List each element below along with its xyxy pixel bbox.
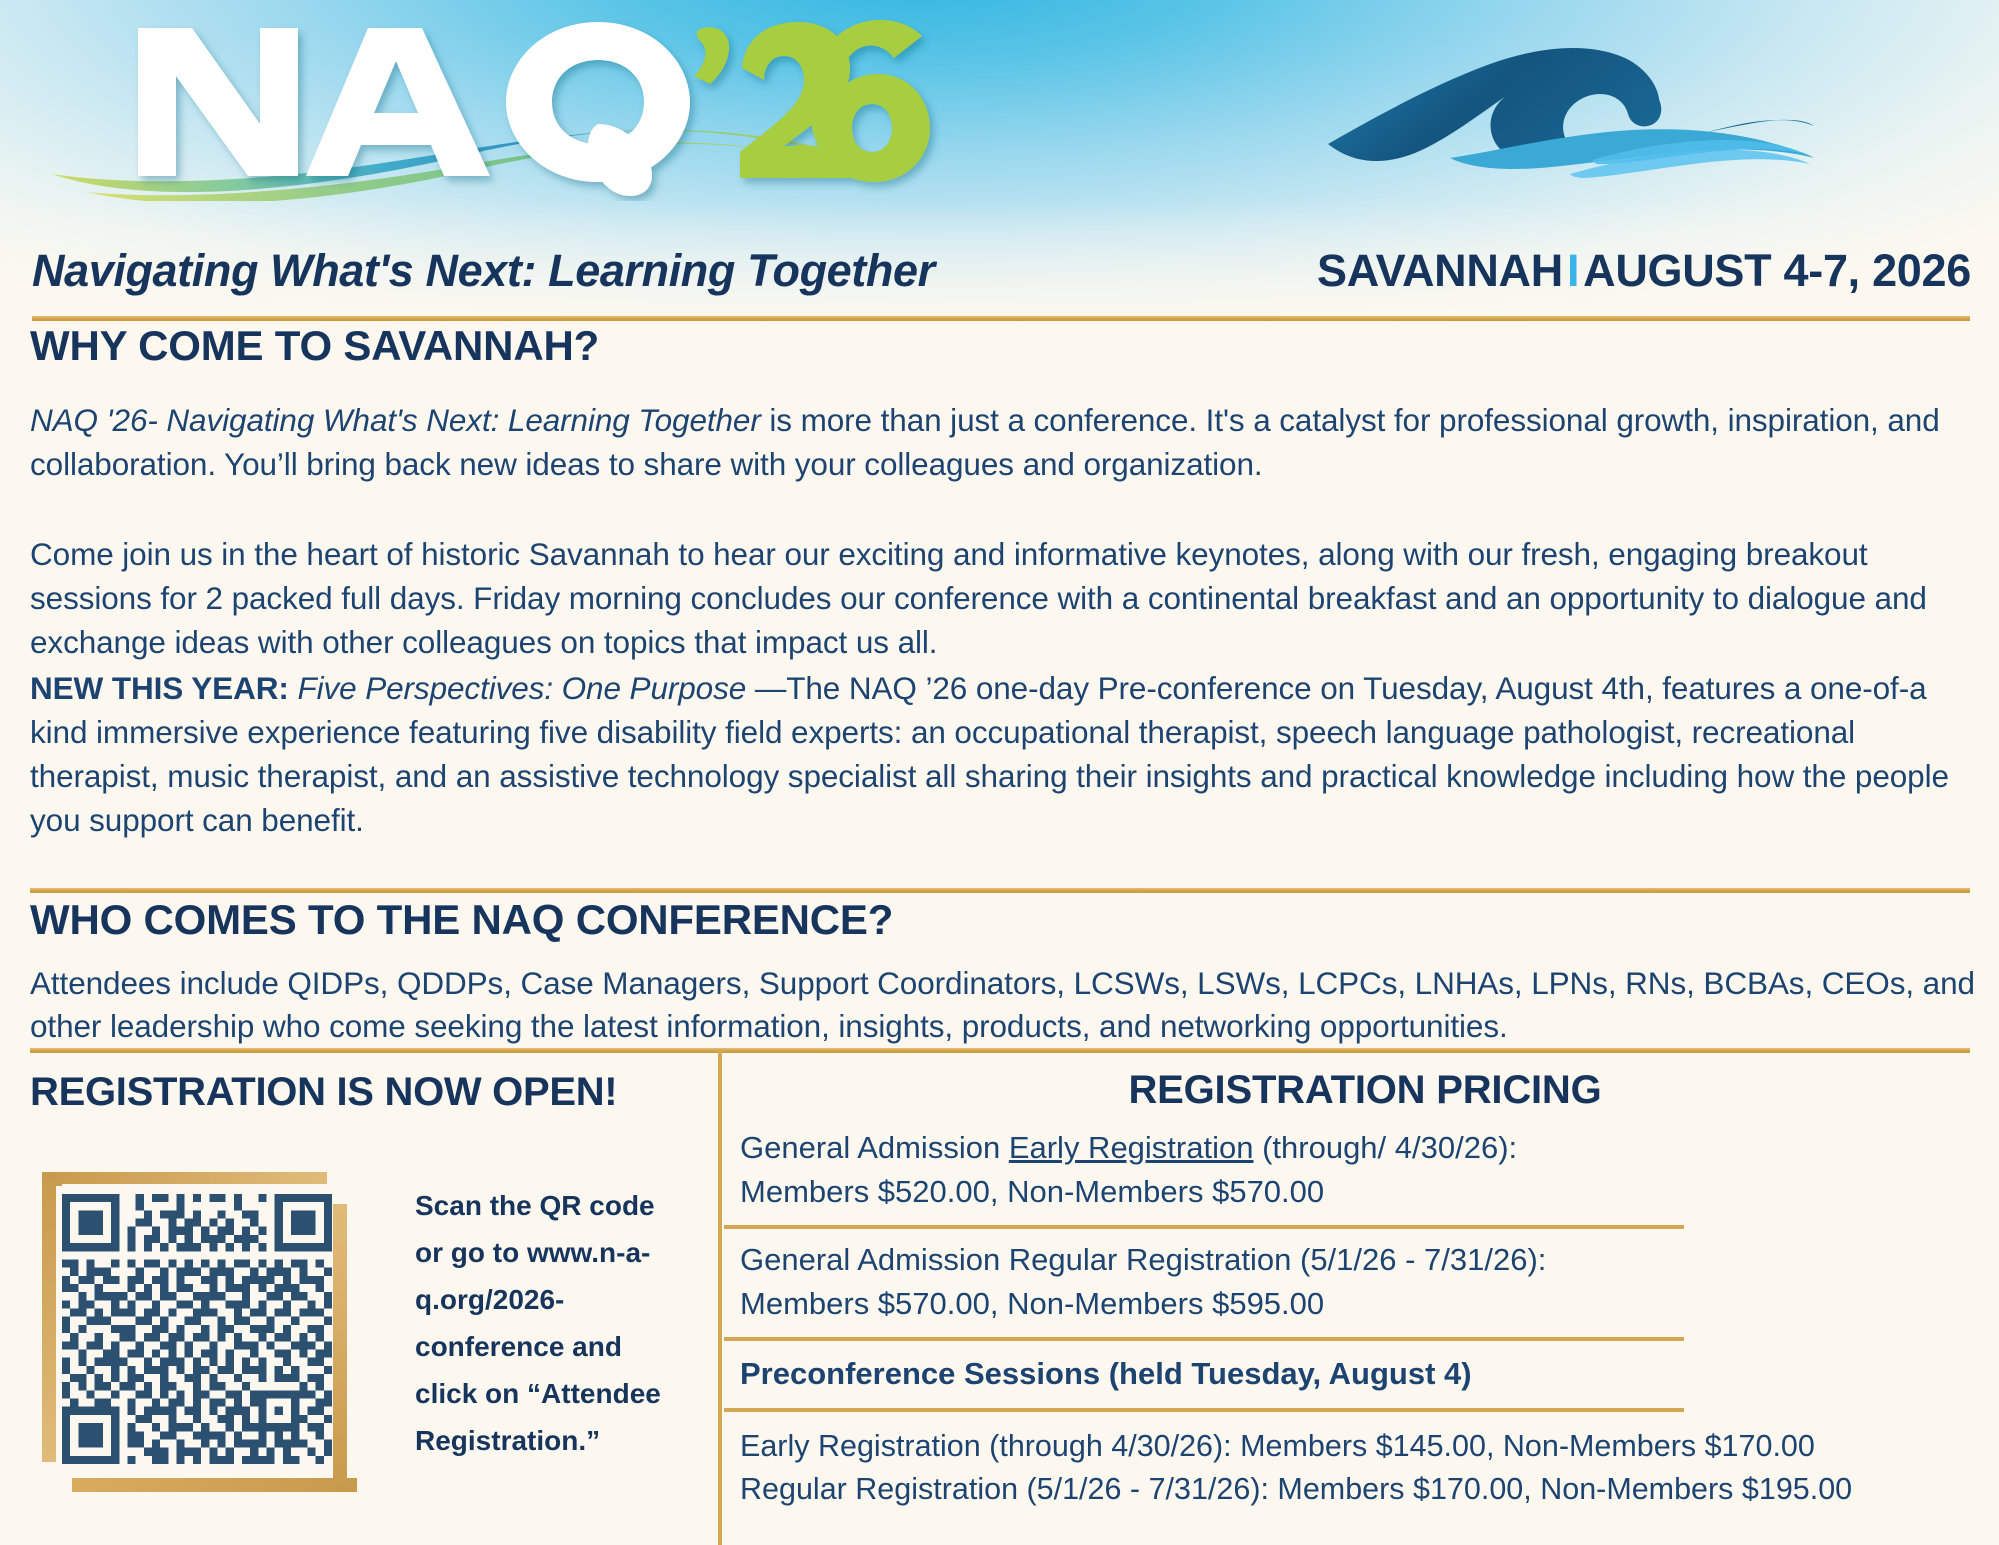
- price-row-1-underline: Early Registration: [1009, 1130, 1254, 1165]
- price-row-4-regular: Regular Registration (5/1/26 - 7/31/26):…: [740, 1468, 1985, 1511]
- qr-frame-accent-bottom: [72, 1478, 357, 1492]
- price-row-4: Early Registration (through 4/30/26): Me…: [740, 1425, 1985, 1511]
- registration-column-divider: [718, 1050, 722, 1545]
- why-paragraph-2: Come join us in the heart of historic Sa…: [30, 532, 1970, 664]
- why-section-heading: WHY COME TO SAVANNAH?: [30, 322, 599, 370]
- location-label: SAVANNAH: [1317, 245, 1563, 296]
- price-row-1-title-pre: General Admission: [740, 1130, 1009, 1165]
- price-row-1: General Admission Early Registration (th…: [740, 1126, 1985, 1214]
- who-section-heading: WHO COMES TO THE NAQ CONFERENCE?: [30, 896, 893, 944]
- price-row-1-detail: Members $520.00, Non-Members $570.00: [740, 1170, 1985, 1214]
- qr-code-frame: [42, 1172, 347, 1492]
- why-paragraph-1: NAQ '26- Navigating What's Next: Learnin…: [30, 398, 1970, 486]
- tagline-row: Navigating What's Next: Learning Togethe…: [0, 245, 1999, 307]
- location-dates: SAVANNAHIAUGUST 4-7, 2026: [1317, 245, 1971, 297]
- scan-instructions: Scan the QR code or go to www.n-a-q.org/…: [415, 1182, 685, 1464]
- price-row-2-title: General Admission Regular Registration (…: [740, 1238, 1985, 1282]
- wave-logo-icon: [1240, 28, 1820, 178]
- price-row-1-title: General Admission Early Registration (th…: [740, 1126, 1985, 1170]
- price-row-2: General Admission Regular Registration (…: [740, 1238, 1985, 1326]
- five-perspectives-italic: Five Perspectives: One Purpose: [289, 670, 755, 706]
- qr-frame-accent-left: [42, 1172, 56, 1462]
- price-row-2-detail: Members $570.00, Non-Members $595.00: [740, 1282, 1985, 1326]
- naq26-logo: [42, 6, 942, 201]
- price-divider-2: [724, 1337, 1684, 1341]
- rule-under-tagline: [32, 316, 1970, 321]
- separator-pipe: I: [1563, 245, 1583, 296]
- conference-flyer: Navigating What's Next: Learning Togethe…: [0, 0, 1999, 1545]
- rule-above-registration: [30, 1048, 1970, 1053]
- price-divider-1: [724, 1225, 1684, 1229]
- why-p1-italic-lead: NAQ '26- Navigating What's Next: Learnin…: [30, 402, 761, 438]
- price-row-4-early: Early Registration (through 4/30/26): Me…: [740, 1425, 1985, 1468]
- registration-pricing-heading: REGISTRATION PRICING: [740, 1068, 1990, 1113]
- who-section-body: Attendees include QIDPs, QDDPs, Case Man…: [30, 962, 1975, 1048]
- new-this-year-label: NEW THIS YEAR:: [30, 670, 289, 706]
- price-row-1-title-post: (through/ 4/30/26):: [1253, 1130, 1517, 1165]
- registration-open-heading: REGISTRATION IS NOW OPEN!: [30, 1070, 617, 1115]
- dates-label: AUGUST 4-7, 2026: [1583, 245, 1971, 296]
- price-row-3: Preconference Sessions (held Tuesday, Au…: [740, 1352, 1985, 1396]
- qr-frame-accent-right: [333, 1204, 347, 1492]
- rule-above-who-section: [30, 888, 1970, 893]
- price-divider-3: [724, 1408, 1684, 1412]
- conference-tagline: Navigating What's Next: Learning Togethe…: [32, 245, 935, 297]
- why-paragraph-3: NEW THIS YEAR: Five Perspectives: One Pu…: [30, 666, 1970, 842]
- qr-code[interactable]: [62, 1184, 332, 1474]
- price-row-3-title: Preconference Sessions (held Tuesday, Au…: [740, 1352, 1985, 1396]
